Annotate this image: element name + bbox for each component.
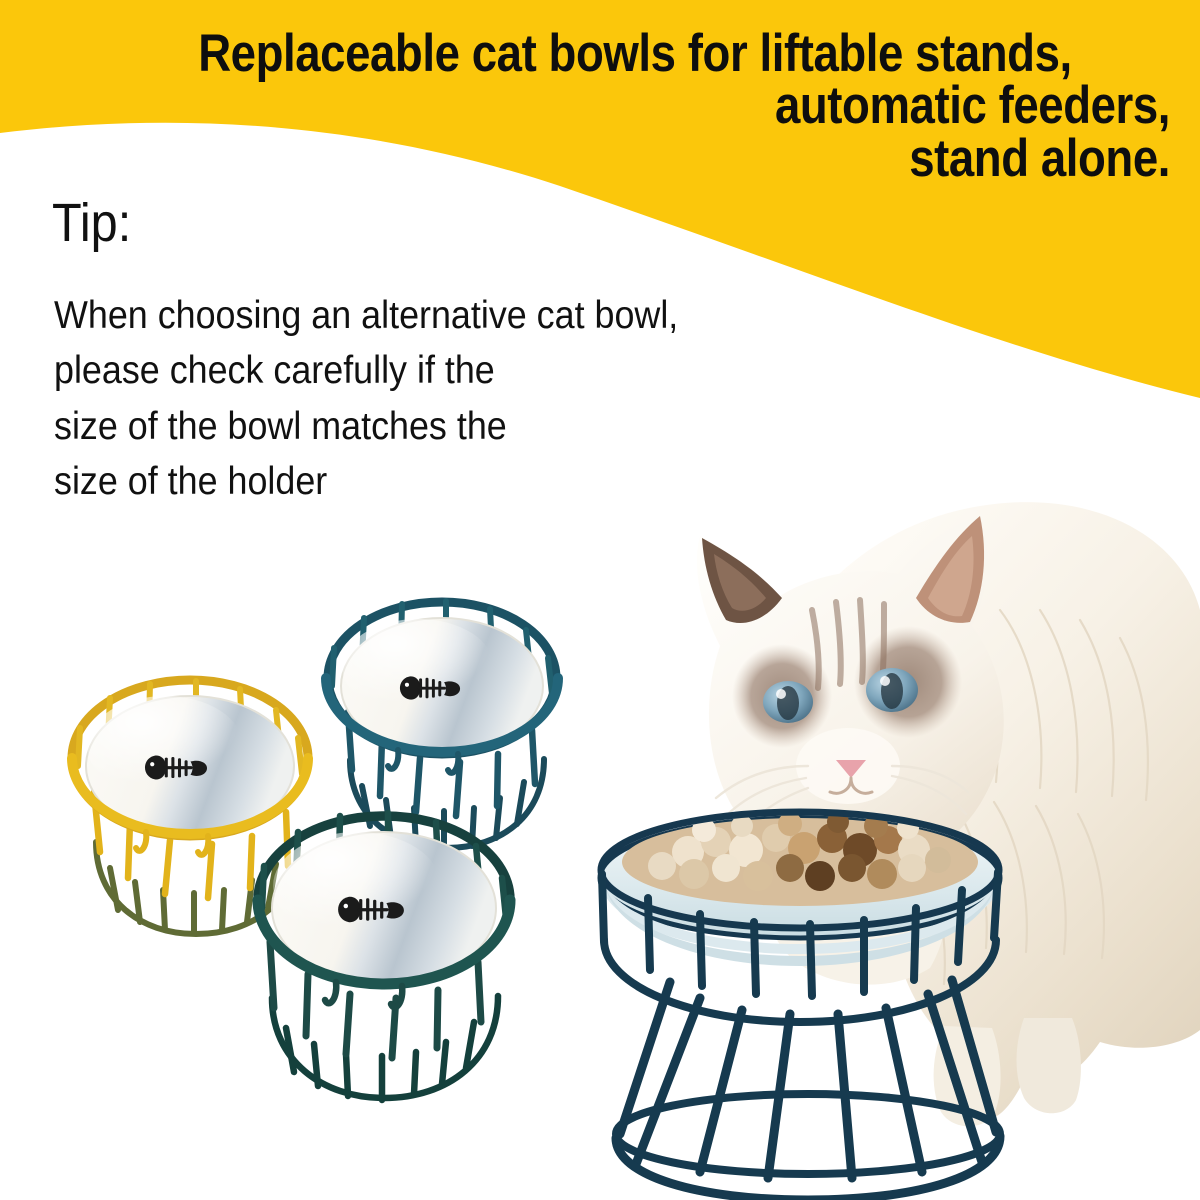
green-bowl-gloss — [273, 832, 441, 940]
tip-line-2: please check carefully if the — [54, 343, 882, 398]
cat-eye-left — [763, 681, 813, 723]
product-illustration — [0, 470, 1200, 1200]
product-scene — [0, 470, 1200, 1200]
tip-line-1: When choosing an alternative cat bowl, — [54, 288, 882, 343]
tip-line-4: size of the holder — [54, 454, 882, 509]
cat-eye-right — [866, 668, 918, 712]
infographic-canvas: Replaceable cat bowls for liftable stand… — [0, 0, 1200, 1200]
headline-line-2: automatic feeders, — [198, 80, 1170, 132]
feeder-base-ring — [616, 1136, 1000, 1200]
cat-paw-rear — [1017, 1018, 1081, 1113]
headline-line-3: stand alone. — [198, 133, 1170, 185]
teal-bowl-stand — [326, 601, 558, 849]
tip-line-3: size of the bowl matches the — [54, 399, 882, 454]
headline-line-1: Replaceable cat bowls for liftable stand… — [198, 28, 1170, 80]
headline: Replaceable cat bowls for liftable stand… — [198, 28, 1170, 185]
tip-label: Tip: — [52, 196, 131, 250]
green-bowl-stand — [258, 813, 510, 1100]
teal-bowl-gloss — [342, 619, 494, 715]
yellow-bowl-gloss — [87, 696, 243, 796]
feeder-base-ellipse — [616, 1094, 1000, 1174]
tip-body: When choosing an alternative cat bowl, p… — [54, 288, 882, 510]
